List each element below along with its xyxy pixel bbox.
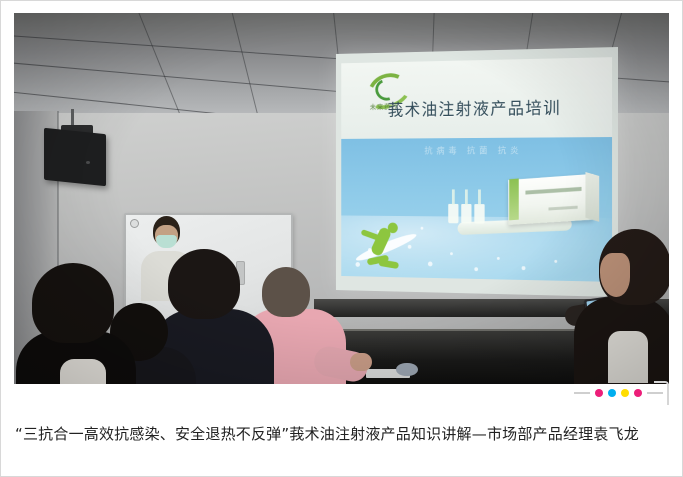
- slide-subtitle: 抗病毒 抗菌 抗炎: [341, 143, 612, 157]
- surfer-silhouette: [357, 212, 415, 272]
- product-ampoules: [448, 188, 487, 223]
- slide-body: 抗病毒 抗菌 抗炎: [341, 137, 612, 282]
- photo-figure: 未来药业 莪术油注射液产品培训 抗病毒 抗菌 抗炎: [14, 13, 669, 384]
- decor-dot-3: [621, 389, 629, 397]
- decor-dot-1: [595, 389, 603, 397]
- audience-pink-shirt-hand: [350, 353, 372, 371]
- conference-room-photo: 未来药业 莪术油注射液产品培训 抗病毒 抗菌 抗炎: [14, 13, 669, 384]
- product-carton-stripe: [509, 179, 519, 221]
- corner-bracket: [654, 381, 669, 405]
- audience-pink-shirt-head: [262, 267, 310, 317]
- decor-dot-2: [608, 389, 616, 397]
- dot-group: [574, 389, 663, 397]
- slide-title: 莪术油注射液产品培训: [341, 93, 612, 121]
- product-carton: [508, 174, 593, 225]
- projection-screen: 未来药业 莪术油注射液产品培训 抗病毒 抗菌 抗炎: [336, 47, 618, 297]
- audience-front-left-head: [32, 263, 114, 343]
- audience-center-head: [168, 249, 240, 319]
- decoration-bar: [14, 385, 669, 411]
- ceiling-projector: [44, 128, 106, 187]
- whiteboard-corner-knob: [130, 219, 139, 228]
- decor-dot-4: [634, 389, 642, 397]
- audience-right-face: [600, 253, 630, 297]
- photo-caption: “三抗合一高效抗感染、安全退热不反弹”莪术油注射液产品知识讲解—市场部产品经理袁…: [15, 421, 673, 448]
- surfer-head: [388, 223, 398, 234]
- surfer-leg-back: [378, 259, 399, 269]
- desk-mouse: [396, 363, 418, 376]
- article-page: 未来药业 莪术油注射液产品培训 抗病毒 抗菌 抗炎: [0, 0, 683, 477]
- projector-lens: [86, 161, 90, 164]
- product-carton-side: [585, 172, 599, 222]
- audience-front-left-collar: [60, 359, 106, 384]
- audience-right-collar: [608, 331, 648, 383]
- presentation-slide: 未来药业 莪术油注射液产品培训 抗病毒 抗菌 抗炎: [341, 57, 612, 282]
- rule-left: [574, 392, 590, 394]
